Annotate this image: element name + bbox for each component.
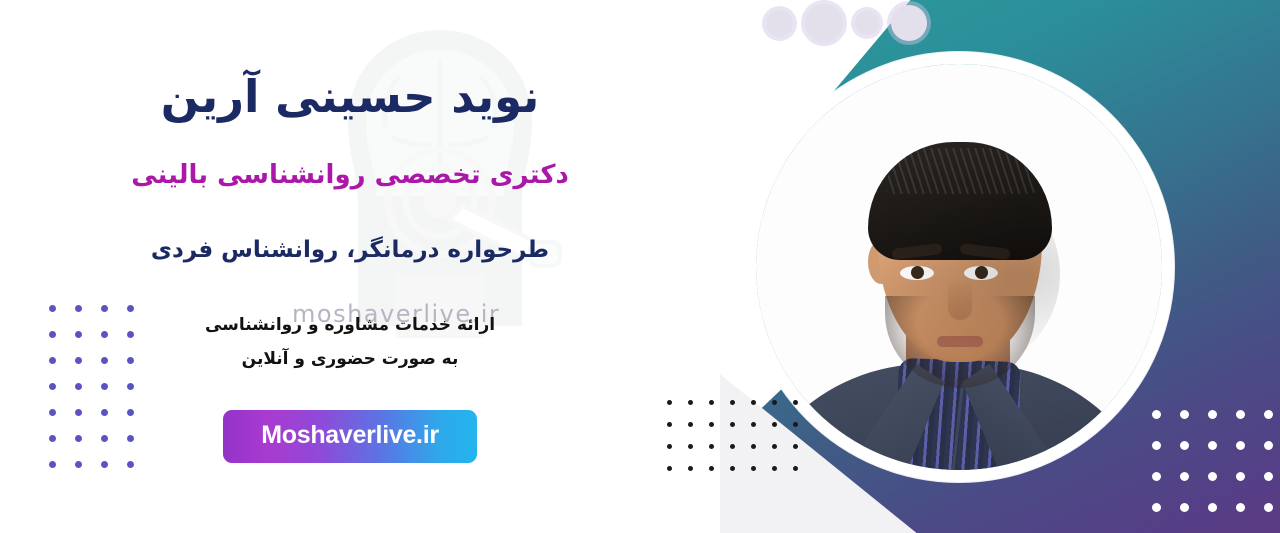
portrait-image-clip bbox=[756, 64, 1162, 470]
grid-dot bbox=[1152, 410, 1161, 419]
grid-dot bbox=[1180, 441, 1189, 450]
grid-dot bbox=[1180, 503, 1189, 512]
portrait-photo bbox=[744, 52, 1174, 482]
psychologist-profile-banner: moshaverlive.ir نوید حسینی آرین دکتری تخ… bbox=[0, 0, 1280, 533]
grid-dot bbox=[793, 422, 798, 427]
service-description-line-2: به صورت حضوری و آنلاین bbox=[205, 342, 495, 376]
grid-dot bbox=[751, 422, 756, 427]
grid-dot bbox=[1236, 472, 1245, 481]
top-circles-decoration bbox=[766, 4, 927, 42]
grid-dot bbox=[1264, 503, 1273, 512]
grid-dot bbox=[709, 444, 714, 449]
circle-decoration-icon bbox=[766, 10, 793, 37]
grid-dot bbox=[751, 400, 756, 405]
grid-dot bbox=[772, 444, 777, 449]
grid-dot bbox=[1236, 503, 1245, 512]
grid-dot bbox=[793, 400, 798, 405]
grid-dot bbox=[1236, 441, 1245, 450]
grid-dot bbox=[1152, 472, 1161, 481]
grid-dot bbox=[730, 422, 735, 427]
grid-dot bbox=[730, 400, 735, 405]
grid-dot bbox=[709, 422, 714, 427]
grid-dot bbox=[1152, 503, 1161, 512]
circle-decoration-icon bbox=[891, 5, 927, 41]
grid-dot bbox=[1264, 472, 1273, 481]
grid-dot bbox=[751, 466, 756, 471]
dot-grid-right bbox=[1133, 410, 1280, 533]
grid-dot bbox=[709, 466, 714, 471]
grid-dot bbox=[730, 466, 735, 471]
grid-dot bbox=[709, 400, 714, 405]
grid-dot bbox=[793, 444, 798, 449]
website-cta-button[interactable]: Moshaverlive.ir bbox=[223, 410, 477, 463]
doctor-role: طرحواره درمانگر، روانشناس فردی bbox=[151, 237, 549, 265]
service-description: ارائه خدمات مشاوره و روانشناسی به صورت ح… bbox=[205, 264, 495, 376]
circle-decoration-icon bbox=[805, 4, 843, 42]
grid-dot bbox=[1208, 503, 1217, 512]
grid-dot bbox=[793, 466, 798, 471]
grid-dot bbox=[730, 444, 735, 449]
photo-shading bbox=[860, 174, 1060, 374]
grid-dot bbox=[1208, 410, 1217, 419]
doctor-name: نوید حسینی آرین bbox=[161, 72, 540, 122]
doctor-specialty: دکتری تخصصی روانشناسی بالینی bbox=[131, 160, 569, 191]
grid-dot bbox=[772, 400, 777, 405]
content-column: نوید حسینی آرین دکتری تخصصی روانشناسی با… bbox=[0, 0, 700, 533]
service-description-line-1: ارائه خدمات مشاوره و روانشناسی bbox=[205, 308, 495, 342]
grid-dot bbox=[1152, 441, 1161, 450]
grid-dot bbox=[1264, 441, 1273, 450]
grid-dot bbox=[772, 422, 777, 427]
grid-dot bbox=[1264, 410, 1273, 419]
grid-dot bbox=[1180, 410, 1189, 419]
grid-dot bbox=[1236, 410, 1245, 419]
circle-decoration-icon bbox=[855, 11, 879, 35]
grid-dot bbox=[1180, 472, 1189, 481]
grid-dot bbox=[772, 466, 777, 471]
grid-dot bbox=[751, 444, 756, 449]
grid-dot bbox=[1208, 441, 1217, 450]
grid-dot bbox=[1208, 472, 1217, 481]
